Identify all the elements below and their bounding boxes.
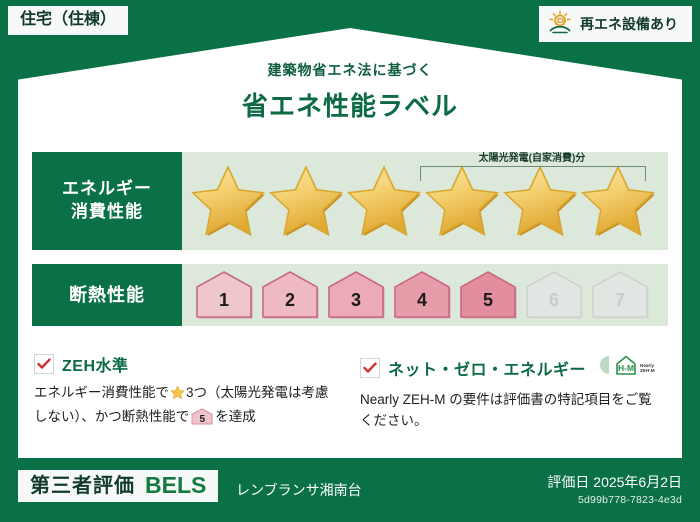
energy-performance-body: 太陽光発電(自家消費)分 bbox=[182, 152, 668, 250]
solar-bracket-icon bbox=[420, 166, 646, 181]
zeh-standard-block: ZEH水準 エネルギー消費性能で3つ（太陽光発電は考慮しない）、かつ断熱性能で5… bbox=[34, 352, 334, 427]
solar-annotation-label: 太陽光発電(自家消費)分 bbox=[414, 149, 650, 164]
house-type-label: 住宅（住棟） bbox=[20, 11, 116, 28]
zeh-m-logo-icon: H-M Nearly ZEH-M bbox=[598, 352, 658, 383]
zeh-body-part2: を達成 bbox=[215, 409, 256, 424]
insulation-level-number: 2 bbox=[260, 290, 320, 311]
energy-label-line2: 消費性能 bbox=[71, 201, 143, 224]
insulation-level-inactive: 7 bbox=[590, 270, 650, 320]
building-name: レンブランサ湘南台 bbox=[236, 480, 362, 500]
star-icon bbox=[190, 163, 266, 239]
insulation-level-number: 7 bbox=[590, 290, 650, 311]
footer-bar: 第三者評価 BELS レンブランサ湘南台 評価日 2025年6月2日 5d99b… bbox=[0, 458, 700, 522]
insulation-level-achieved: 5 bbox=[458, 270, 518, 320]
title-block: 建築物省エネ法に基づく 省エネ性能ラベル bbox=[0, 60, 700, 123]
insulation-level-number: 6 bbox=[524, 290, 584, 311]
checkmark-icon bbox=[34, 354, 54, 374]
star-icon bbox=[268, 163, 344, 239]
evaluation-date: 評価日 2025年6月2日 bbox=[547, 472, 682, 492]
solar-annotation: 太陽光発電(自家消費)分 bbox=[414, 150, 650, 184]
bels-jp-label: 第三者評価 bbox=[30, 476, 135, 496]
insulation-level-achieved: 3 bbox=[326, 270, 386, 320]
net-zero-body: Nearly ZEH-M の要件は評価書の特記項目をご覧ください。 bbox=[360, 390, 660, 431]
energy-label-line1: エネルギー bbox=[62, 178, 152, 201]
insulation-level-achieved: 2 bbox=[260, 270, 320, 320]
bels-en-label: BELS bbox=[145, 474, 206, 497]
checkmark-icon bbox=[360, 358, 380, 378]
net-zero-energy-block: ネット・ゼロ・エネルギー H-M Nearly ZEH-M Nearly ZEH… bbox=[360, 352, 660, 431]
insulation-performance-row: 断熱性能 1234567 bbox=[32, 264, 668, 326]
insulation-performance-body: 1234567 bbox=[182, 264, 668, 326]
zeh-standard-title: ZEH水準 bbox=[62, 352, 129, 376]
mini-star-icon bbox=[170, 385, 185, 407]
svg-text:ZEH-M: ZEH-M bbox=[640, 368, 655, 373]
renewable-badge-label: 再エネ設備あり bbox=[580, 17, 678, 31]
solar-sun-icon bbox=[547, 10, 573, 38]
insulation-level-number: 3 bbox=[326, 290, 386, 311]
renewable-equipment-badge: 再エネ設備あり bbox=[539, 6, 692, 42]
zeh-standard-body: エネルギー消費性能で3つ（太陽光発電は考慮しない）、かつ断熱性能で5を達成 bbox=[34, 383, 334, 427]
insulation-level-number: 1 bbox=[194, 290, 254, 311]
star-icon bbox=[346, 163, 422, 239]
energy-performance-row: エネルギー 消費性能 太陽光発電(自家消費)分 bbox=[32, 152, 668, 250]
label-main-title: 省エネ性能ラベル bbox=[0, 86, 700, 123]
insulation-performance-label: 断熱性能 bbox=[32, 264, 182, 326]
svg-text:H-M: H-M bbox=[618, 363, 634, 373]
insulation-level-achieved: 4 bbox=[392, 270, 452, 320]
net-zero-heading: ネット・ゼロ・エネルギー H-M Nearly ZEH-M bbox=[360, 352, 660, 383]
mini-house-badge-icon: 5 bbox=[191, 408, 213, 425]
zeh-body-part1: エネルギー消費性能で bbox=[34, 385, 169, 400]
zeh-standard-heading: ZEH水準 bbox=[34, 352, 334, 376]
insulation-level-scale: 1234567 bbox=[182, 264, 668, 326]
insulation-label-text: 断熱性能 bbox=[69, 283, 145, 307]
insulation-level-number: 5 bbox=[458, 290, 518, 311]
energy-performance-label: エネルギー 消費性能 bbox=[32, 152, 182, 250]
label-subtitle: 建築物省エネ法に基づく bbox=[0, 60, 700, 80]
evaluation-id: 5d99b778-7823-4e3d bbox=[578, 494, 682, 506]
insulation-level-inactive: 6 bbox=[524, 270, 584, 320]
net-zero-title: ネット・ゼロ・エネルギー bbox=[388, 356, 586, 380]
house-type-tag: 住宅（住棟） bbox=[8, 6, 128, 35]
insulation-level-number: 4 bbox=[392, 290, 452, 311]
bels-certification-box: 第三者評価 BELS bbox=[18, 470, 218, 502]
insulation-level-achieved: 1 bbox=[194, 270, 254, 320]
mini-house-number: 5 bbox=[191, 412, 213, 427]
